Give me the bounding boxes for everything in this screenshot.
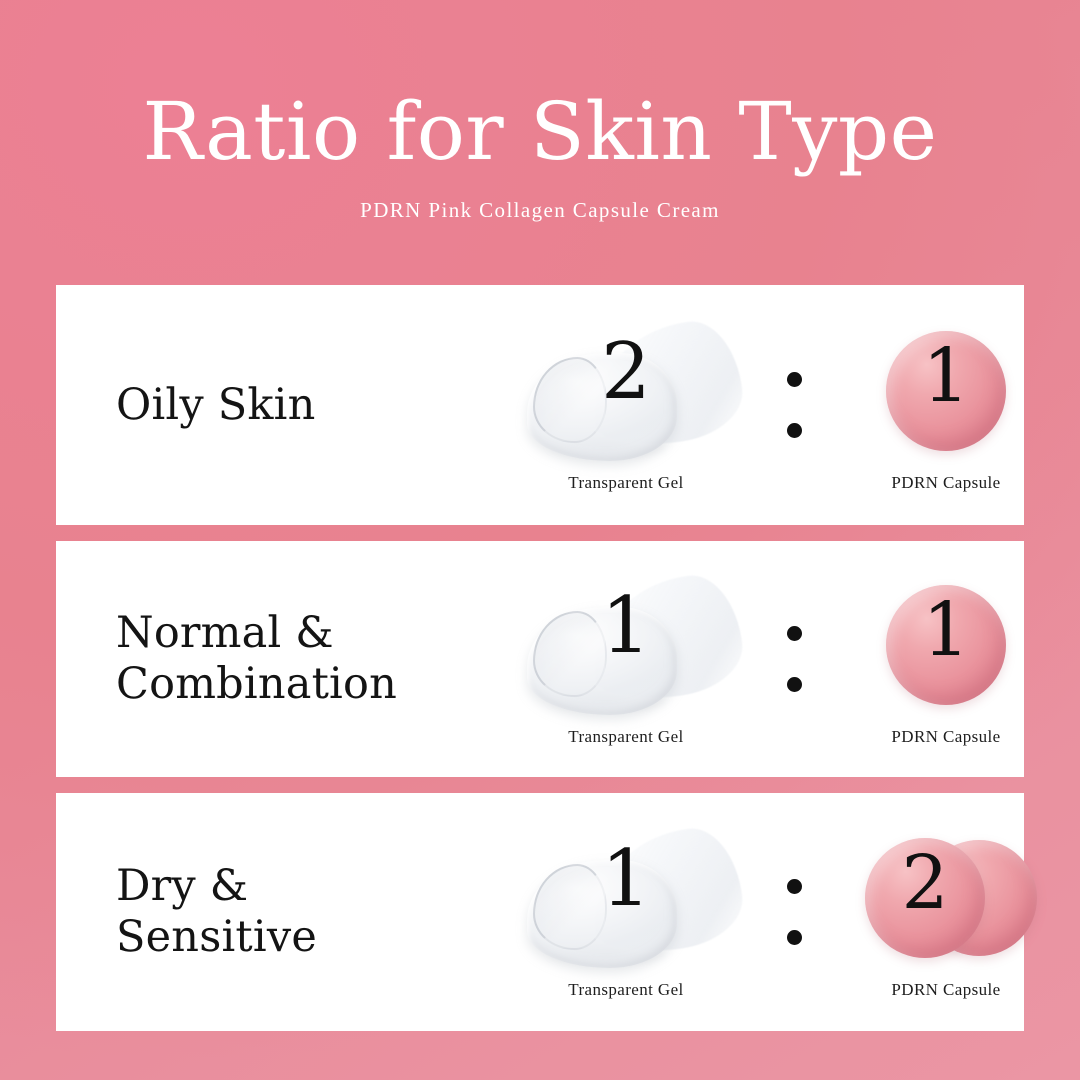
colon-dot-bottom [787,677,802,692]
skin-type-label: Dry & Sensitive [116,861,317,962]
page-header: Ratio for Skin Type PDRN Pink Collagen C… [0,0,1080,223]
transparent-gel-group: 1 Transparent Gel [486,571,766,747]
ratio-separator [772,626,816,692]
pdrn-capsule-group: 1 PDRN Capsule [826,571,1066,747]
transparent-gel-group: 2 Transparent Gel [486,317,766,493]
colon-dot-top [787,372,802,387]
pdrn-capsule-group: 2 PDRN Capsule [826,824,1066,1000]
page-title: Ratio for Skin Type [0,92,1080,172]
colon-dot-bottom [787,930,802,945]
transparent-gel-group: 1 Transparent Gel [486,824,766,1000]
gel-caption: Transparent Gel [486,980,766,1000]
capsule-amount: 1 [851,339,1041,413]
gel-swatch-icon: 1 [519,824,734,974]
capsule-icon: 1 [851,571,1041,721]
ratio-separator [772,879,816,945]
skin-type-label: Oily Skin [116,380,315,431]
colon-dot-top [787,626,802,641]
colon-dot-top [787,879,802,894]
capsule-amount: 2 [865,846,985,920]
capsule-icon: 2 [851,824,1041,974]
pdrn-capsule-group: 1 PDRN Capsule [826,317,1066,493]
capsule-icon: 1 [851,317,1041,467]
gel-amount: 1 [519,840,734,918]
colon-dot-bottom [787,423,802,438]
gel-swatch-icon: 1 [519,571,734,721]
gel-swatch-icon: 2 [519,317,734,467]
table-row: Oily Skin 2 Transparent Gel 1 PDRN Capsu… [56,285,1024,525]
ratio-card-list: Oily Skin 2 Transparent Gel 1 PDRN Capsu… [56,285,1024,1031]
capsule-amount: 1 [851,593,1041,667]
table-row: Dry & Sensitive 1 Transparent Gel 2 PDRN… [56,793,1024,1031]
table-row: Normal & Combination 1 Transparent Gel 1… [56,541,1024,777]
ratio-separator [772,372,816,438]
gel-amount: 2 [519,333,734,411]
skin-type-label: Normal & Combination [116,608,397,709]
gel-caption: Transparent Gel [486,473,766,493]
gel-amount: 1 [519,587,734,665]
page-subtitle: PDRN Pink Collagen Capsule Cream [0,198,1080,223]
capsule-caption: PDRN Capsule [826,727,1066,747]
gel-caption: Transparent Gel [486,727,766,747]
capsule-caption: PDRN Capsule [826,980,1066,1000]
capsule-caption: PDRN Capsule [826,473,1066,493]
